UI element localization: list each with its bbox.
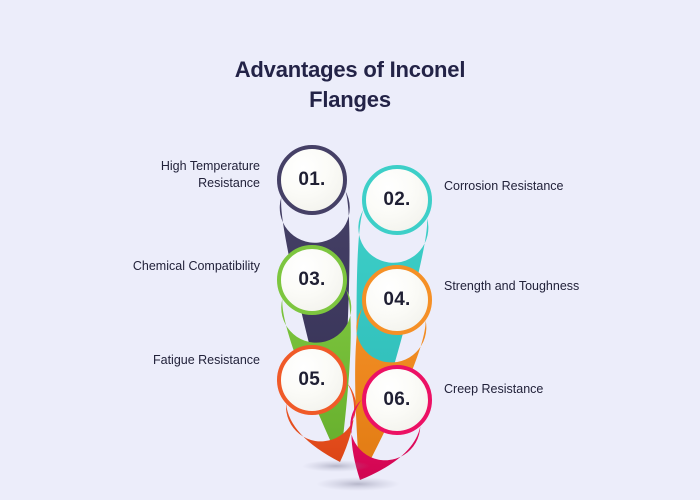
pin-label-05: Fatigue Resistance [100,352,260,369]
pin-label-01: High Temperature Resistance [100,158,260,192]
infographic-canvas: Advantages of Inconel Flanges 01.02.03.0… [0,0,700,500]
pin-number-02[interactable]: 02. [362,165,432,235]
pin-number-01[interactable]: 01. [277,145,347,215]
tails-group [280,191,429,480]
pin-label-03: Chemical Compatibility [100,258,260,275]
pin-number-06[interactable]: 06. [362,365,432,435]
pin-number-04[interactable]: 04. [362,265,432,335]
pin-label-06: Creep Resistance [444,381,604,398]
pin-number-05[interactable]: 05. [277,345,347,415]
pin-label-02: Corrosion Resistance [444,178,604,195]
pin-label-04: Strength and Toughness [444,278,604,295]
pin-number-03[interactable]: 03. [277,245,347,315]
pin-tails-graphic [0,0,700,500]
